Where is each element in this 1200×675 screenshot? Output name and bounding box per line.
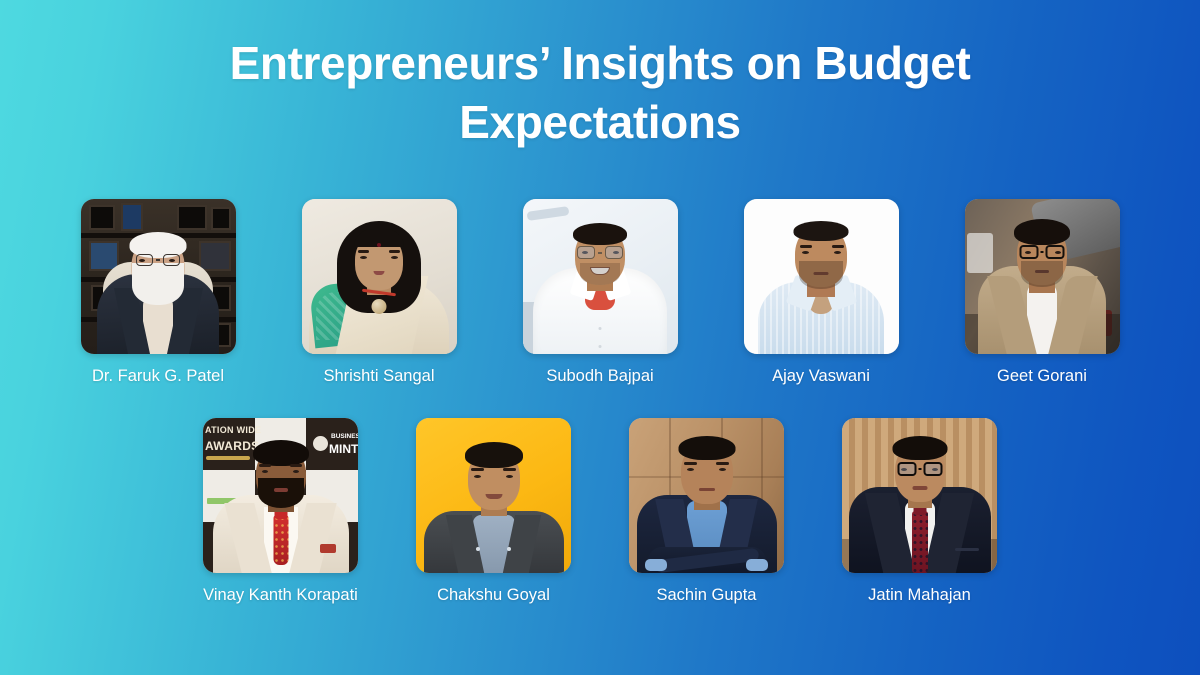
portrait-chakshu-goyal[interactable] bbox=[416, 418, 571, 573]
person-name: Dr. Faruk G. Patel bbox=[92, 367, 224, 386]
mint-brand-line-1: BUSINESS bbox=[331, 434, 358, 441]
person-name: Subodh Bajpai bbox=[546, 367, 653, 386]
person-name: Jatin Mahajan bbox=[868, 586, 971, 605]
person-card[interactable]: ATION WIDE AWARDS BUSINESS MINT bbox=[203, 418, 358, 605]
portrait-ajay-vaswani[interactable] bbox=[744, 199, 899, 354]
person-card[interactable]: Jatin Mahajan bbox=[842, 418, 997, 605]
mint-brand-line-2: MINT bbox=[329, 443, 358, 455]
page-title: Entrepreneurs’ Insights on Budget Expect… bbox=[0, 34, 1200, 152]
person-card[interactable]: Ajay Vaswani bbox=[744, 199, 899, 386]
awards-backdrop-line-2: AWARDS bbox=[205, 440, 259, 453]
portrait-sachin-gupta[interactable] bbox=[629, 418, 784, 573]
portrait-subodh-bajpai[interactable] bbox=[523, 199, 678, 354]
person-name: Sachin Gupta bbox=[657, 586, 757, 605]
person-card[interactable]: Geet Gorani bbox=[965, 199, 1120, 386]
portrait-vinay-kanth-korapati[interactable]: ATION WIDE AWARDS BUSINESS MINT bbox=[203, 418, 358, 573]
portrait-faruk-g-patel[interactable] bbox=[81, 199, 236, 354]
portrait-scene: ATION WIDE AWARDS BUSINESS MINT bbox=[203, 418, 358, 573]
portrait-scene bbox=[81, 199, 236, 354]
person-card[interactable]: Subodh Bajpai bbox=[523, 199, 678, 386]
portrait-scene bbox=[965, 199, 1120, 354]
person-name: Chakshu Goyal bbox=[437, 586, 550, 605]
person-name: Vinay Kanth Korapati bbox=[203, 586, 358, 605]
portrait-scene bbox=[302, 199, 457, 354]
people-row-1: Dr. Faruk G. Patel bbox=[0, 199, 1200, 386]
portrait-shrishti-sangal[interactable] bbox=[302, 199, 457, 354]
portrait-scene bbox=[523, 199, 678, 354]
people-row-2: ATION WIDE AWARDS BUSINESS MINT bbox=[0, 418, 1200, 605]
person-card[interactable]: Dr. Faruk G. Patel bbox=[81, 199, 236, 386]
page-title-line-2: Expectations bbox=[0, 93, 1200, 152]
person-name: Ajay Vaswani bbox=[772, 367, 870, 386]
portrait-scene bbox=[416, 418, 571, 573]
awards-backdrop-line-1: ATION WIDE bbox=[205, 426, 261, 435]
page-title-line-1: Entrepreneurs’ Insights on Budget bbox=[0, 34, 1200, 93]
person-card[interactable]: Chakshu Goyal bbox=[416, 418, 571, 605]
portrait-scene bbox=[629, 418, 784, 573]
portrait-geet-gorani[interactable] bbox=[965, 199, 1120, 354]
portrait-jatin-mahajan[interactable] bbox=[842, 418, 997, 573]
person-name: Geet Gorani bbox=[997, 367, 1087, 386]
person-name: Shrishti Sangal bbox=[324, 367, 435, 386]
portrait-scene bbox=[744, 199, 899, 354]
person-card[interactable]: Shrishti Sangal bbox=[302, 199, 457, 386]
person-card[interactable]: Sachin Gupta bbox=[629, 418, 784, 605]
portrait-scene bbox=[842, 418, 997, 573]
